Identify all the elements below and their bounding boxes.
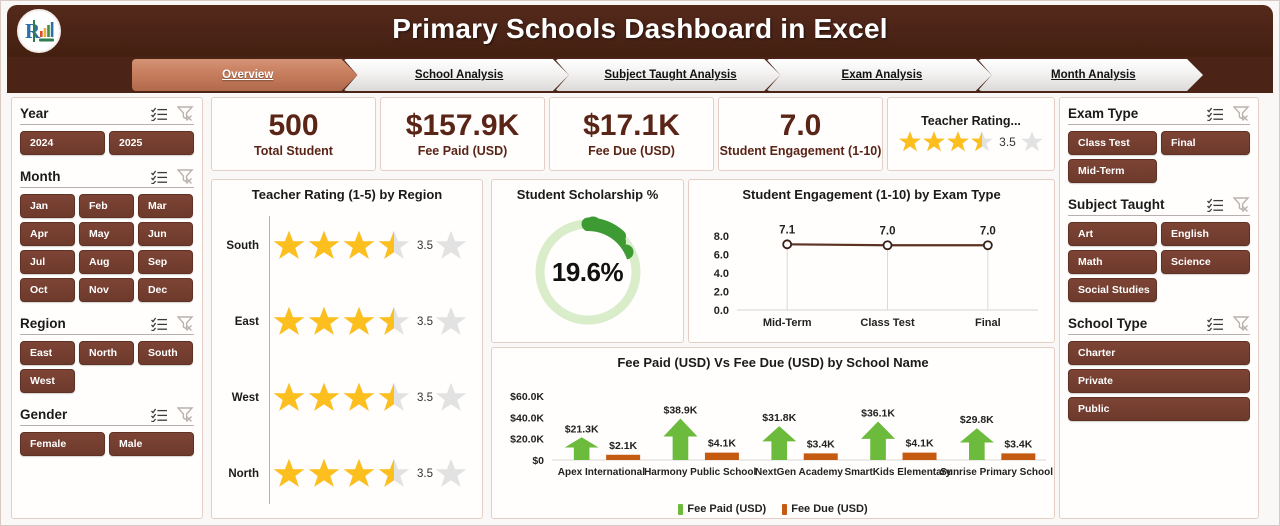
chart-title: Teacher Rating (1-5) by Region — [212, 180, 482, 202]
data-label: $2.1K — [609, 440, 637, 452]
slicer-item-nov[interactable]: Nov — [79, 278, 134, 302]
clear-filter-icon[interactable] — [1233, 106, 1250, 121]
clear-filter-icon[interactable] — [177, 407, 194, 422]
data-point — [984, 241, 992, 249]
slicer-item-mid-term[interactable]: Mid-Term — [1068, 159, 1157, 183]
slicer-subject-taught: Subject TaughtArtEnglishMathScienceSocia… — [1068, 195, 1250, 302]
star-icon — [377, 229, 411, 263]
bar-fee-due — [1001, 453, 1035, 460]
slicer-item-female[interactable]: Female — [20, 432, 105, 456]
data-label: $36.1K — [861, 407, 895, 419]
data-label: $3.4K — [807, 438, 835, 450]
multi-select-icon[interactable] — [151, 317, 168, 331]
slicer-header: Subject Taught — [1068, 195, 1250, 216]
multi-select-icon[interactable] — [151, 170, 168, 184]
rating-filled-stars — [898, 130, 994, 154]
x-tick-label: Sunrise Primary School — [940, 467, 1053, 478]
chart-title: Student Scholarship % — [492, 180, 683, 202]
slicer-month: MonthJanFebMarAprMayJunJulAugSepOctNovDe… — [20, 167, 194, 302]
star-icon — [272, 381, 306, 415]
star-icon — [272, 305, 306, 339]
left-filter-panel: Year20242025MonthJanFebMarAprMayJunJulAu… — [11, 97, 203, 519]
slicer-item-south[interactable]: South — [138, 341, 193, 365]
kpi-value: $157.9K — [406, 110, 519, 142]
slicer-actions — [1207, 106, 1250, 121]
slicer-item-2025[interactable]: 2025 — [109, 131, 194, 155]
rating-card-title: Teacher Rating... — [921, 114, 1021, 128]
chart-teacher-rating-by-region: Teacher Rating (1-5) by Region South3.5E… — [211, 179, 483, 519]
y-tick-label: 6.0 — [714, 250, 729, 262]
x-tick-label: Harmony Public School — [644, 467, 756, 478]
data-label: $4.1K — [906, 438, 934, 450]
bar-fee-due — [705, 453, 739, 460]
star-icon — [377, 457, 411, 491]
slicer-items: Class TestFinalMid-Term — [1068, 131, 1250, 183]
chart-title: Student Engagement (1-10) by Exam Type — [689, 180, 1054, 202]
slicer-title: Gender — [20, 407, 67, 422]
legend-label: Fee Paid (USD) — [687, 503, 766, 515]
legend-item: Fee Paid (USD) — [678, 503, 766, 515]
slicer-item-west[interactable]: West — [20, 369, 75, 393]
tab-label: Exam Analysis — [836, 69, 923, 81]
slicer-item-jun[interactable]: Jun — [138, 222, 193, 246]
kpi-total-student: 500 Total Student — [211, 97, 376, 171]
page-title: Primary Schools Dashboard in Excel — [7, 13, 1273, 45]
kpi-value: 7.0 — [780, 110, 822, 142]
tab-subject-taught-analysis[interactable]: Subject Taught Analysis — [555, 59, 780, 91]
data-label: 7.0 — [980, 225, 996, 237]
tab-overview[interactable]: Overview — [132, 59, 357, 91]
y-tick-label: $40.0K — [510, 412, 544, 424]
slicer-title: Region — [20, 316, 66, 331]
slicer-actions — [151, 106, 194, 121]
slicer-item-apr[interactable]: Apr — [20, 222, 75, 246]
clear-filter-icon[interactable] — [1233, 197, 1250, 212]
data-label: $3.4K — [1004, 438, 1032, 450]
rating-row-stars: 3.5 — [264, 457, 468, 491]
kpi-student-engagement: 7.0 Student Engagement (1-10) — [718, 97, 883, 171]
multi-select-icon[interactable] — [1207, 107, 1224, 121]
x-tick-label: SmartKids Elementary — [844, 467, 951, 478]
star-icon — [970, 130, 994, 154]
rating-row: South3.5 — [212, 208, 482, 284]
chart-fee-paid-vs-fee-due: Fee Paid (USD) Vs Fee Due (USD) by Schoo… — [491, 347, 1055, 519]
data-label: $21.3K — [565, 423, 599, 435]
slicer-item-feb[interactable]: Feb — [79, 194, 134, 218]
bar-fee-due — [606, 455, 640, 460]
chart-legend: Fee Paid (USD)Fee Due (USD) — [492, 503, 1054, 515]
slicer-title: Exam Type — [1068, 106, 1138, 121]
slicer-actions — [1207, 197, 1250, 212]
star-icon — [434, 229, 468, 263]
slicer-actions — [151, 407, 194, 422]
y-tick-label: $60.0K — [510, 391, 544, 403]
slicer-title: Month — [20, 169, 60, 184]
x-tick-label: Class Test — [860, 317, 915, 329]
clear-filter-icon[interactable] — [1233, 316, 1250, 331]
bar-fee-paid — [565, 437, 599, 460]
slicer-item-charter[interactable]: Charter — [1068, 341, 1250, 365]
slicer-item-jul[interactable]: Jul — [20, 250, 75, 274]
star-icon — [342, 381, 376, 415]
slicer-item-private[interactable]: Private — [1068, 369, 1250, 393]
slicer-title: Subject Taught — [1068, 197, 1165, 212]
rating-row-label: East — [212, 316, 264, 328]
data-label: 7.0 — [880, 225, 896, 237]
legend-swatch — [678, 504, 683, 515]
data-label: $38.9K — [664, 405, 698, 417]
slicer-items: 20242025 — [20, 131, 194, 155]
kpi-label: Total Student — [254, 144, 333, 158]
line-chart-svg: 0.02.04.06.08.07.1Mid-Term7.0Class Test7… — [689, 206, 1056, 342]
slicer-item-jan[interactable]: Jan — [20, 194, 75, 218]
slicer-item-dec[interactable]: Dec — [138, 278, 193, 302]
slicer-item-social-studies[interactable]: Social Studies — [1068, 278, 1157, 302]
rating-row-label: South — [212, 240, 264, 252]
star-icon — [342, 457, 376, 491]
star-icon — [434, 457, 468, 491]
slicer-item-east[interactable]: East — [20, 341, 75, 365]
bar-fee-paid — [762, 426, 796, 460]
multi-select-icon[interactable] — [151, 107, 168, 121]
data-label: $31.8K — [762, 412, 796, 424]
slicer-actions — [151, 316, 194, 331]
rating-row: West3.5 — [212, 360, 482, 436]
rating-row-label: North — [212, 468, 264, 480]
slicer-header: Exam Type — [1068, 104, 1250, 125]
data-label: $29.8K — [960, 414, 994, 426]
slicer-items: FemaleMale — [20, 432, 194, 456]
tab-bar: OverviewSchool AnalysisSubject Taught An… — [7, 57, 1273, 93]
slicer-item-english[interactable]: English — [1161, 222, 1250, 246]
data-point — [884, 241, 892, 249]
slicer-item-may[interactable]: May — [79, 222, 134, 246]
slicer-item-art[interactable]: Art — [1068, 222, 1157, 246]
clear-filter-icon[interactable] — [177, 106, 194, 121]
y-tick-label: $0 — [532, 455, 544, 467]
kpi-teacher-rating: Teacher Rating... 3.5 — [887, 97, 1055, 171]
star-icon — [434, 381, 468, 415]
kpi-value: 500 — [268, 110, 318, 142]
rating-row-value: 3.5 — [417, 468, 433, 480]
star-icon — [1020, 130, 1044, 154]
kpi-label: Fee Paid (USD) — [418, 144, 508, 158]
slicer-gender: GenderFemaleMale — [20, 405, 194, 456]
star-icon — [377, 305, 411, 339]
rating-row-value: 3.5 — [417, 316, 433, 328]
slicer-actions — [1207, 316, 1250, 331]
slicer-title: Year — [20, 106, 49, 121]
star-icon — [922, 130, 946, 154]
chart-plot-area: 19.6% — [492, 206, 683, 338]
slicer-item-math[interactable]: Math — [1068, 250, 1157, 274]
slicer-school-type: School TypeCharterPrivatePublic — [1068, 314, 1250, 421]
legend-item: Fee Due (USD) — [782, 503, 867, 515]
kpi-fee-paid: $157.9K Fee Paid (USD) — [380, 97, 545, 171]
slicer-item-oct[interactable]: Oct — [20, 278, 75, 302]
rating-row-label: West — [212, 392, 264, 404]
star-icon — [307, 457, 341, 491]
kpi-value: $17.1K — [583, 110, 680, 142]
tab-month-analysis[interactable]: Month Analysis — [978, 59, 1203, 91]
y-tick-label: 4.0 — [714, 268, 729, 280]
star-icon — [377, 381, 411, 415]
slicer-item-sep[interactable]: Sep — [138, 250, 193, 274]
tab-exam-analysis[interactable]: Exam Analysis — [766, 59, 991, 91]
chart-student-scholarship: Student Scholarship % 19.6% — [491, 179, 684, 343]
y-axis-line — [269, 216, 270, 504]
rating-row-value: 3.5 — [417, 392, 433, 404]
star-icon — [946, 130, 970, 154]
slicer-header: Gender — [20, 405, 194, 426]
rating-stars: 3.5 — [898, 130, 1044, 154]
star-icon — [342, 305, 376, 339]
star-icon — [898, 130, 922, 154]
bar-fee-due — [804, 453, 838, 460]
data-point — [783, 240, 791, 248]
slicer-actions — [151, 169, 194, 184]
rating-empty-stars — [1020, 130, 1044, 154]
right-filter-panel: Exam TypeClass TestFinalMid-TermSubject … — [1059, 97, 1259, 519]
slicer-header: Region — [20, 314, 194, 335]
rating-row: North3.5 — [212, 436, 482, 512]
x-tick-label: Final — [975, 317, 1001, 329]
slicer-item-science[interactable]: Science — [1161, 250, 1250, 274]
slicer-header: Month — [20, 167, 194, 188]
dashboard-app: R Primary Schools Dashboard in Excel Ove… — [0, 0, 1280, 526]
slicer-item-male[interactable]: Male — [109, 432, 194, 456]
clear-filter-icon[interactable] — [177, 169, 194, 184]
chart-plot-area: South3.5East3.5West3.5North3.5 — [212, 208, 482, 512]
kpi-label: Student Engagement (1-10) — [720, 144, 882, 158]
slicer-exam-type: Exam TypeClass TestFinalMid-Term — [1068, 104, 1250, 183]
star-icon — [342, 229, 376, 263]
rating-row-value: 3.5 — [417, 240, 433, 252]
clear-filter-icon[interactable] — [177, 316, 194, 331]
star-icon — [434, 305, 468, 339]
rating-row-stars: 3.5 — [264, 229, 468, 263]
bar-chart-svg: $0$20.0K$40.0K$60.0K$21.3K$2.1KApex Inte… — [492, 374, 1056, 500]
slicer-items: JanFebMarAprMayJunJulAugSepOctNovDec — [20, 194, 194, 302]
y-tick-label: 2.0 — [714, 287, 729, 299]
rating-row-stars: 3.5 — [264, 305, 468, 339]
slicer-year: Year20242025 — [20, 104, 194, 155]
x-tick-label: NextGen Academy — [755, 467, 843, 478]
slicer-item-class-test[interactable]: Class Test — [1068, 131, 1157, 155]
y-tick-label: $20.0K — [510, 434, 544, 446]
slicer-item-final[interactable]: Final — [1161, 131, 1250, 155]
slicer-region: RegionEastNorthSouthWest — [20, 314, 194, 393]
rating-row-stars: 3.5 — [264, 381, 468, 415]
bar-fee-paid — [663, 419, 697, 460]
slicer-item-mar[interactable]: Mar — [138, 194, 193, 218]
star-icon — [307, 381, 341, 415]
tab-label: Month Analysis — [1045, 69, 1136, 81]
bar-fee-paid — [960, 428, 994, 460]
app-header: R Primary Schools Dashboard in Excel — [7, 5, 1273, 57]
star-icon — [272, 457, 306, 491]
slicer-item-north[interactable]: North — [79, 341, 134, 365]
tab-school-analysis[interactable]: School Analysis — [343, 59, 568, 91]
tab-label: School Analysis — [409, 69, 503, 81]
tab-label: Overview — [216, 69, 273, 81]
data-label: 7.1 — [779, 224, 796, 236]
y-tick-label: 0.0 — [714, 305, 729, 317]
slicer-title: School Type — [1068, 316, 1147, 331]
slicer-header: School Type — [1068, 314, 1250, 335]
star-icon — [272, 229, 306, 263]
bar-fee-due — [903, 453, 937, 460]
kpi-fee-due: $17.1K Fee Due (USD) — [549, 97, 714, 171]
kpi-label: Fee Due (USD) — [588, 144, 675, 158]
slicer-item-aug[interactable]: Aug — [79, 250, 134, 274]
slicer-header: Year — [20, 104, 194, 125]
bar-fee-paid — [861, 421, 895, 460]
star-icon — [307, 229, 341, 263]
chart-title: Fee Paid (USD) Vs Fee Due (USD) by Schoo… — [492, 348, 1054, 370]
donut-center-value: 19.6% — [552, 257, 623, 288]
slicer-items: EastNorthSouthWest — [20, 341, 194, 393]
legend-swatch — [782, 504, 787, 515]
multi-select-icon[interactable] — [151, 408, 168, 422]
x-tick-label: Mid-Term — [763, 317, 812, 329]
slicer-item-public[interactable]: Public — [1068, 397, 1250, 421]
slicer-items: CharterPrivatePublic — [1068, 341, 1250, 421]
data-label: $4.1K — [708, 438, 736, 450]
rating-row: East3.5 — [212, 284, 482, 360]
star-icon — [307, 305, 341, 339]
chart-plot-area: $0$20.0K$40.0K$60.0K$21.3K$2.1KApex Inte… — [492, 374, 1054, 516]
rating-value: 3.5 — [999, 135, 1016, 149]
slicer-items: ArtEnglishMathScienceSocial Studies — [1068, 222, 1250, 302]
chart-plot-area: 0.02.04.06.08.07.1Mid-Term7.0Class Test7… — [689, 206, 1054, 338]
chart-student-engagement-by-exam-type: Student Engagement (1-10) by Exam Type 0… — [688, 179, 1055, 343]
x-tick-label: Apex International — [558, 467, 645, 478]
multi-select-icon[interactable] — [1207, 317, 1224, 331]
tab-label: Subject Taught Analysis — [598, 69, 736, 81]
slicer-item-2024[interactable]: 2024 — [20, 131, 105, 155]
multi-select-icon[interactable] — [1207, 198, 1224, 212]
legend-label: Fee Due (USD) — [791, 503, 867, 515]
y-tick-label: 8.0 — [714, 231, 729, 243]
